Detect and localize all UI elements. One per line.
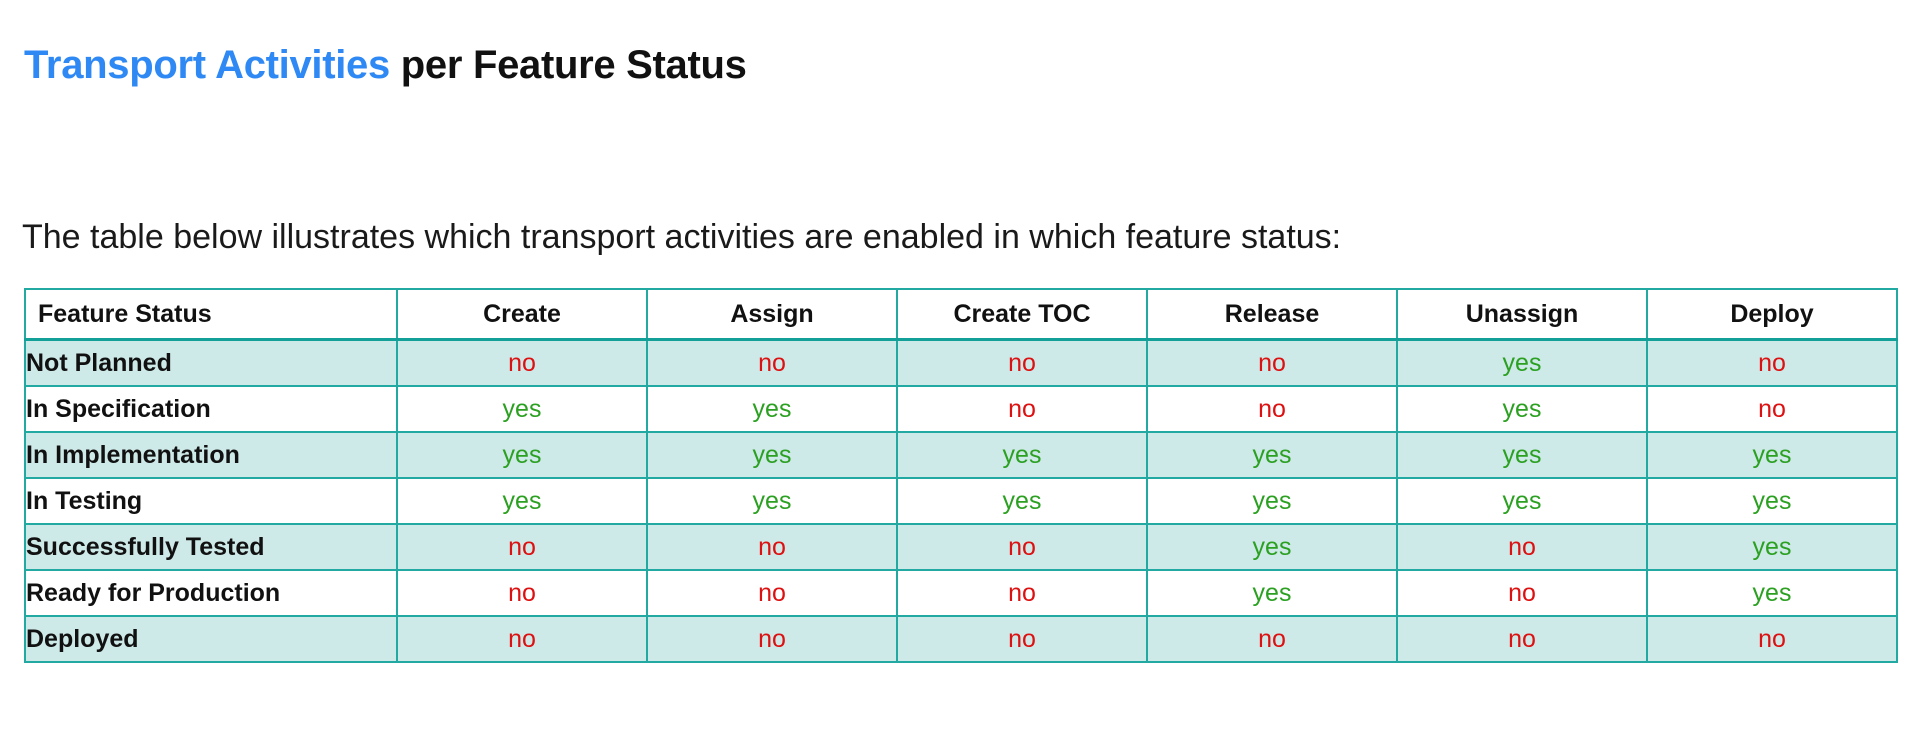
table-row: Not Plannednonononoyesno bbox=[25, 340, 1897, 387]
activity-value-cell: no bbox=[397, 524, 647, 570]
slide-page: Transport Activities per Feature Status … bbox=[0, 0, 1920, 748]
table-row: Successfully Testednononoyesnoyes bbox=[25, 524, 1897, 570]
feature-status-cell: In Testing bbox=[25, 478, 397, 524]
activity-value-cell: no bbox=[1397, 524, 1647, 570]
activity-value-cell: no bbox=[647, 616, 897, 662]
activity-value-cell: no bbox=[897, 340, 1147, 387]
activity-value-cell: yes bbox=[897, 432, 1147, 478]
activity-value-cell: yes bbox=[1647, 432, 1897, 478]
activity-value-cell: no bbox=[647, 524, 897, 570]
activity-value-cell: no bbox=[397, 570, 647, 616]
column-header-release: Release bbox=[1147, 289, 1397, 340]
feature-status-cell: Successfully Tested bbox=[25, 524, 397, 570]
activity-value-cell: no bbox=[397, 340, 647, 387]
activity-value-cell: yes bbox=[1397, 386, 1647, 432]
feature-status-cell: Ready for Production bbox=[25, 570, 397, 616]
activity-value-cell: yes bbox=[897, 478, 1147, 524]
column-header-unassign: Unassign bbox=[1397, 289, 1647, 340]
activity-value-cell: no bbox=[1147, 616, 1397, 662]
feature-status-cell: Not Planned bbox=[25, 340, 397, 387]
column-header-assign: Assign bbox=[647, 289, 897, 340]
activity-value-cell: no bbox=[1397, 616, 1647, 662]
table-row: In Implementationyesyesyesyesyesyes bbox=[25, 432, 1897, 478]
page-title-accent: Transport Activities bbox=[24, 43, 390, 87]
table-row: Ready for Productionnononoyesnoyes bbox=[25, 570, 1897, 616]
page-title-plain: per Feature Status bbox=[390, 43, 747, 87]
transport-activities-table: Feature Status Create Assign Create TOC … bbox=[24, 288, 1898, 663]
activity-value-cell: no bbox=[897, 570, 1147, 616]
activity-value-cell: no bbox=[897, 386, 1147, 432]
intro-paragraph: The table below illustrates which transp… bbox=[22, 216, 1341, 259]
activity-value-cell: no bbox=[647, 570, 897, 616]
activity-value-cell: no bbox=[397, 616, 647, 662]
activity-value-cell: no bbox=[897, 524, 1147, 570]
activity-value-cell: no bbox=[897, 616, 1147, 662]
table-body: Not PlannednonononoyesnoIn Specification… bbox=[25, 340, 1897, 663]
activity-value-cell: no bbox=[1647, 340, 1897, 387]
column-header-feature-status: Feature Status bbox=[25, 289, 397, 340]
activity-value-cell: no bbox=[1147, 340, 1397, 387]
activity-value-cell: yes bbox=[1647, 524, 1897, 570]
page-title: Transport Activities per Feature Status bbox=[24, 41, 747, 89]
transport-activities-table-wrap: Feature Status Create Assign Create TOC … bbox=[24, 288, 1896, 663]
activity-value-cell: no bbox=[1647, 386, 1897, 432]
activity-value-cell: yes bbox=[1147, 432, 1397, 478]
activity-value-cell: no bbox=[1647, 616, 1897, 662]
feature-status-cell: In Implementation bbox=[25, 432, 397, 478]
activity-value-cell: yes bbox=[1647, 478, 1897, 524]
table-header: Feature Status Create Assign Create TOC … bbox=[25, 289, 1897, 340]
table-header-row: Feature Status Create Assign Create TOC … bbox=[25, 289, 1897, 340]
table-row: Deployednononononono bbox=[25, 616, 1897, 662]
table-row: In Specificationyesyesnonoyesno bbox=[25, 386, 1897, 432]
activity-value-cell: yes bbox=[647, 478, 897, 524]
activity-value-cell: yes bbox=[1397, 432, 1647, 478]
feature-status-cell: In Specification bbox=[25, 386, 397, 432]
activity-value-cell: yes bbox=[1147, 478, 1397, 524]
table-row: In Testingyesyesyesyesyesyes bbox=[25, 478, 1897, 524]
feature-status-cell: Deployed bbox=[25, 616, 397, 662]
activity-value-cell: yes bbox=[397, 478, 647, 524]
column-header-create: Create bbox=[397, 289, 647, 340]
activity-value-cell: yes bbox=[1147, 570, 1397, 616]
activity-value-cell: yes bbox=[1147, 524, 1397, 570]
activity-value-cell: yes bbox=[1397, 340, 1647, 387]
activity-value-cell: no bbox=[1147, 386, 1397, 432]
activity-value-cell: no bbox=[647, 340, 897, 387]
activity-value-cell: yes bbox=[1647, 570, 1897, 616]
activity-value-cell: yes bbox=[1397, 478, 1647, 524]
column-header-deploy: Deploy bbox=[1647, 289, 1897, 340]
column-header-create-toc: Create TOC bbox=[897, 289, 1147, 340]
activity-value-cell: no bbox=[1397, 570, 1647, 616]
activity-value-cell: yes bbox=[397, 432, 647, 478]
activity-value-cell: yes bbox=[397, 386, 647, 432]
activity-value-cell: yes bbox=[647, 432, 897, 478]
activity-value-cell: yes bbox=[647, 386, 897, 432]
